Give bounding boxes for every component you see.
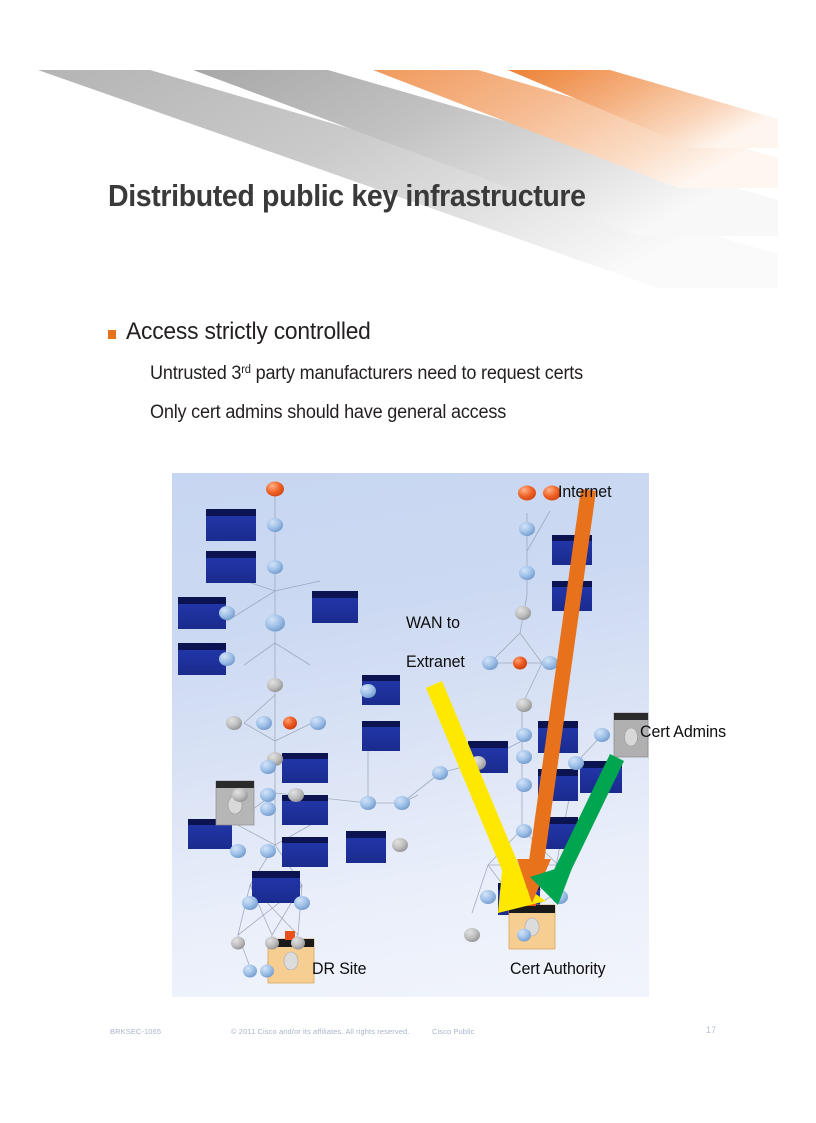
dr-server-box [216,781,254,825]
label-wan-line1: WAN to [406,613,460,633]
bullet-square-icon [108,330,116,339]
bullet-item-level1: Access strictly controlled [108,318,728,346]
label-cert-authority: Cert Authority [510,959,605,979]
slide-footer: BRKSEC-1065 © 2011 Cisco and/or its affi… [0,1024,816,1044]
internet-cloud-right-a [518,486,536,501]
label-wan-line2: Extranet [406,652,465,672]
footer-copyright: © 2011 Cisco and/or its affiliates. All … [231,1027,409,1036]
body-content: Access strictly controlled Untrusted 3rd… [108,318,728,424]
bullet-level2-a-post: party manufacturers need to request cert… [251,363,583,384]
slide-canvas: Distributed public key infrastructure Ac… [0,0,816,1060]
footer-page-number: 17 [706,1025,716,1035]
page-title: Distributed public key infrastructure [108,178,697,214]
internet-cloud-left [266,482,284,497]
bullet-level1-label: Access strictly controlled [126,318,371,346]
bullet-item-level2-b: Only cert admins should have general acc… [150,402,699,424]
footer-classification: Cisco Public [432,1027,474,1036]
footer-session-code: BRKSEC-1065 [110,1027,161,1036]
bullet-item-level2-a: Untrusted 3rd party manufacturers need t… [150,363,699,385]
bullet-level2-a-pre: Untrusted 3 [150,363,241,384]
diagram-graphics [172,473,649,997]
label-internet: Internet [558,482,611,502]
decorative-banner [38,58,778,288]
bullet-level2-a-ordinal: rd [241,363,251,376]
network-topology-diagram [172,473,649,997]
label-cert-admins: Cert Admins [640,722,726,742]
label-dr-site: DR Site [312,959,366,979]
